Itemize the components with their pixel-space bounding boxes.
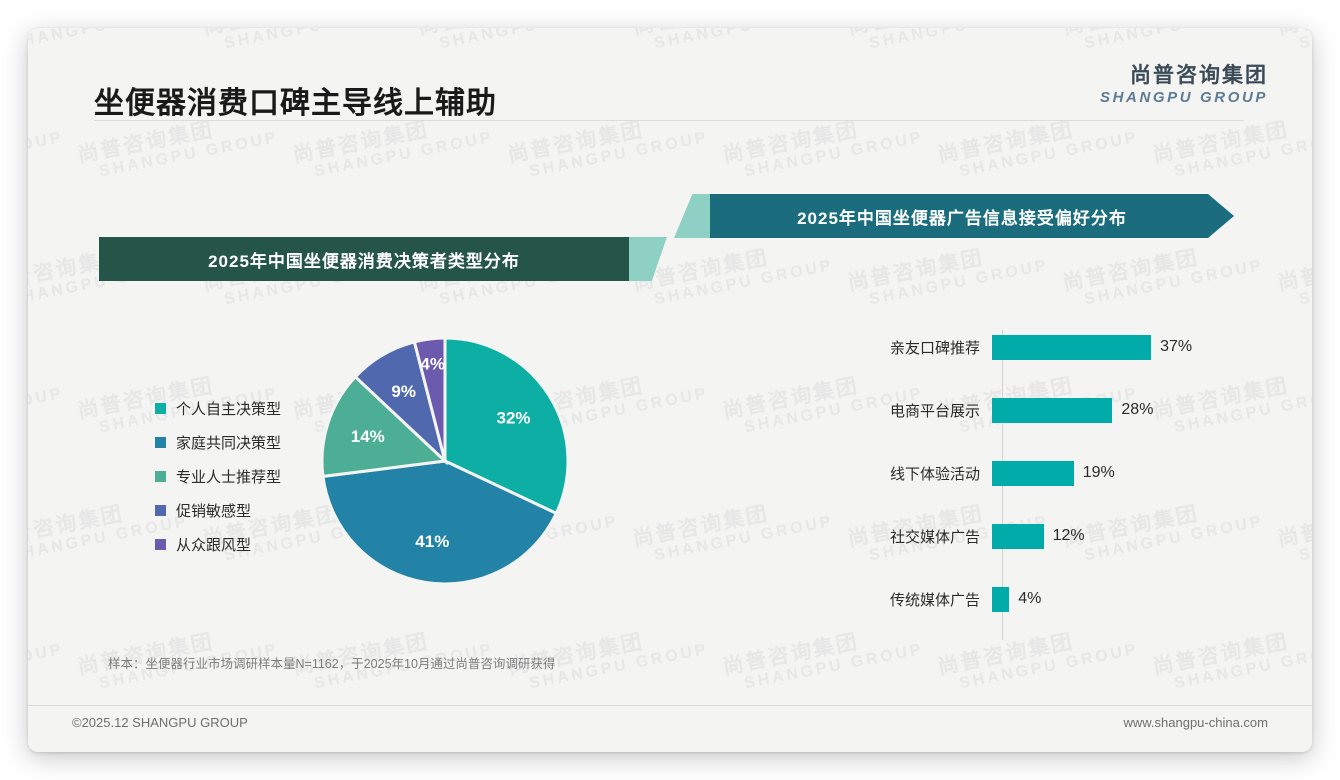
watermark-tile: 尚普咨询集团SHANGPU GROUP (201, 747, 405, 752)
pie-legend-item[interactable]: 促销敏感型 (155, 500, 281, 520)
page-title: 坐便器消费口碑主导线上辅助 (94, 78, 497, 122)
footer-copyright: ©2025.12 SHANGPU GROUP (72, 715, 248, 730)
bar-category-label: 亲友口碑推荐 (788, 337, 992, 358)
watermark-tile: 尚普咨询集团SHANGPU GROUP (1061, 747, 1265, 752)
sample-note: 样本：坐便器行业市场调研样本量N=1162，于2025年10月通过尚普咨询调研获… (108, 653, 555, 672)
watermark-tile: 尚普咨询集团SHANGPU GROUP (631, 747, 835, 752)
bar-fill[interactable] (992, 587, 1009, 612)
legend-swatch-icon (155, 539, 166, 550)
watermark-tile: 尚普咨询集团SHANGPU GROUP (28, 619, 65, 696)
bar-chart-row[interactable]: 亲友口碑推荐37% (788, 330, 1248, 364)
pie-slice-value-label: 32% (497, 409, 531, 428)
pie-legend-item[interactable]: 家庭共同决策型 (155, 432, 281, 452)
footer-divider (28, 705, 1312, 706)
brand-logo: 尚普咨询集团 SHANGPU GROUP (1100, 64, 1268, 107)
legend-swatch-icon (155, 437, 166, 448)
pie-chart: 32%41%14%9%4% (320, 336, 570, 586)
pie-legend-label: 家庭共同决策型 (176, 432, 281, 453)
bar-value-label: 28% (1121, 401, 1153, 419)
pie-legend-label: 个人自主决策型 (176, 398, 281, 419)
watermark-tile: 尚普咨询集团SHANGPU GROUP (1276, 235, 1312, 312)
pie-chart-svg: 32%41%14%9%4% (320, 336, 570, 586)
bar-value-label: 19% (1083, 464, 1115, 482)
watermark-tile: 尚普咨询集团SHANGPU GROUP (1276, 491, 1312, 568)
pie-legend-label: 从众跟风型 (176, 534, 251, 555)
bar-value-label: 12% (1053, 527, 1085, 545)
bar-chart-row[interactable]: 电商平台展示28% (788, 393, 1248, 427)
watermark-tile: 尚普咨询集团SHANGPU GROUP (1061, 235, 1265, 312)
bar-value-label: 4% (1018, 590, 1041, 608)
legend-swatch-icon (155, 403, 166, 414)
bar-fill[interactable] (992, 524, 1044, 549)
left-banner-arrow-tail (629, 237, 667, 281)
pie-legend-label: 专业人士推荐型 (176, 466, 281, 487)
logo-chinese-text: 尚普咨询集团 (1100, 64, 1268, 88)
bar-category-label: 社交媒体广告 (788, 526, 992, 547)
watermark-tile: 尚普咨询集团SHANGPU GROUP (846, 747, 1050, 752)
bar-fill[interactable] (992, 461, 1074, 486)
watermark-tile: 尚普咨询集团SHANGPU GROUP (846, 235, 1050, 312)
bar-chart-panel: 亲友口碑推荐37%电商平台展示28%线下体验活动19%社交媒体广告12%传统媒体… (788, 314, 1248, 654)
bar-chart-row[interactable]: 社交媒体广告12% (788, 519, 1248, 553)
pie-legend-item[interactable]: 专业人士推荐型 (155, 466, 281, 486)
bar-chart-row[interactable]: 传统媒体广告4% (788, 582, 1248, 616)
bar-fill[interactable] (992, 335, 1151, 360)
watermark-tile: 尚普咨询集团SHANGPU GROUP (28, 747, 190, 752)
bar-chart-row[interactable]: 线下体验活动19% (788, 456, 1248, 490)
legend-swatch-icon (155, 471, 166, 482)
header-divider (94, 120, 1244, 121)
pie-slice-value-label: 4% (420, 354, 445, 373)
bar-fill[interactable] (992, 398, 1112, 423)
watermark-tile: 尚普咨询集团SHANGPU GROUP (28, 363, 65, 440)
footer-website: www.shangpu-china.com (1123, 715, 1268, 730)
right-chart-banner: 2025年中国坐便器广告信息接受偏好分布 (710, 194, 1234, 238)
pie-legend: 个人自主决策型家庭共同决策型专业人士推荐型促销敏感型从众跟风型 (155, 398, 281, 568)
bar-category-label: 电商平台展示 (788, 400, 992, 421)
watermark-tile: 尚普咨询集团SHANGPU GROUP (1276, 747, 1312, 752)
left-chart-banner-label: 2025年中国坐便器消费决策者类型分布 (208, 247, 520, 272)
logo-english-text: SHANGPU GROUP (1100, 89, 1268, 107)
bar-category-label: 传统媒体广告 (788, 589, 992, 610)
pie-legend-item[interactable]: 个人自主决策型 (155, 398, 281, 418)
slide-card: 尚普咨询集团SHANGPU GROUP尚普咨询集团SHANGPU GROUP尚普… (28, 28, 1312, 752)
bar-value-label: 37% (1160, 338, 1192, 356)
slide-header: 坐便器消费口碑主导线上辅助 尚普咨询集团 SHANGPU GROUP (28, 28, 1312, 121)
pie-slice-value-label: 14% (351, 427, 385, 446)
watermark-tile: 尚普咨询集团SHANGPU GROUP (416, 747, 620, 752)
pie-legend-item[interactable]: 从众跟风型 (155, 534, 281, 554)
legend-swatch-icon (155, 505, 166, 516)
bar-category-label: 线下体验活动 (788, 463, 992, 484)
pie-slice-value-label: 41% (415, 532, 449, 551)
right-chart-banner-label: 2025年中国坐便器广告信息接受偏好分布 (797, 204, 1127, 229)
pie-legend-label: 促销敏感型 (176, 500, 251, 521)
pie-chart-panel: 个人自主决策型家庭共同决策型专业人士推荐型促销敏感型从众跟风型 32%41%14… (99, 318, 659, 648)
left-chart-banner: 2025年中国坐便器消费决策者类型分布 (99, 237, 629, 281)
pie-slice-value-label: 9% (391, 382, 416, 401)
